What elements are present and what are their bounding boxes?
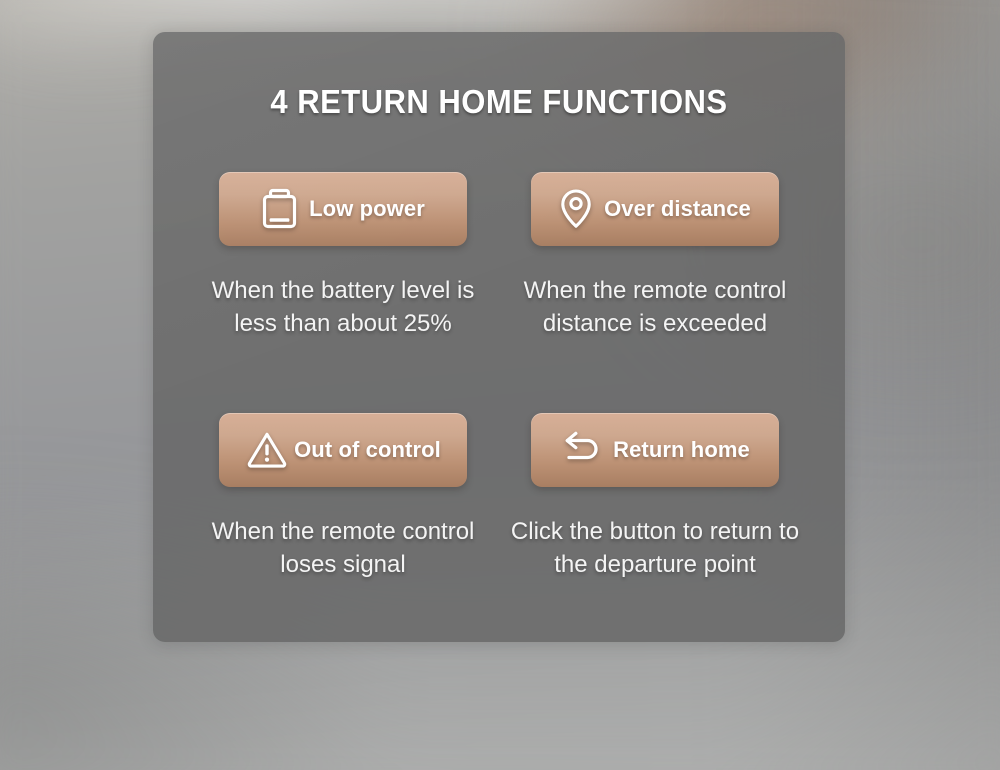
feature-item-low-power: Low power When the battery level is less… xyxy=(187,172,499,340)
feature-panel: 4 RETURN HOME FUNCTIONS Low power When t… xyxy=(153,32,845,642)
return-home-caption: Click the button to return to the depart… xyxy=(505,515,805,581)
over-distance-caption: When the remote control distance is exce… xyxy=(505,274,805,340)
feature-item-out-of-control: Out of control When the remote control l… xyxy=(187,413,499,581)
location-pin-icon xyxy=(559,187,593,232)
feature-item-over-distance: Over distance When the remote control di… xyxy=(499,172,811,340)
page-title: 4 RETURN HOME FUNCTIONS xyxy=(174,83,824,121)
low-power-label: Low power xyxy=(309,196,425,222)
over-distance-button[interactable]: Over distance xyxy=(531,172,779,246)
over-distance-label: Over distance xyxy=(604,196,751,222)
return-home-label: Return home xyxy=(613,437,750,463)
out-of-control-caption: When the remote control loses signal xyxy=(193,515,493,581)
battery-low-icon xyxy=(261,186,298,233)
low-power-caption: When the battery level is less than abou… xyxy=(193,274,493,340)
low-power-button[interactable]: Low power xyxy=(219,172,467,246)
return-arrow-icon xyxy=(560,430,602,471)
feature-item-return-home: Return home Click the button to return t… xyxy=(499,413,811,581)
feature-grid: Low power When the battery level is less… xyxy=(187,172,811,581)
warning-triangle-icon xyxy=(245,429,289,472)
out-of-control-button[interactable]: Out of control xyxy=(219,413,467,487)
return-home-button[interactable]: Return home xyxy=(531,413,779,487)
out-of-control-label: Out of control xyxy=(294,437,441,463)
